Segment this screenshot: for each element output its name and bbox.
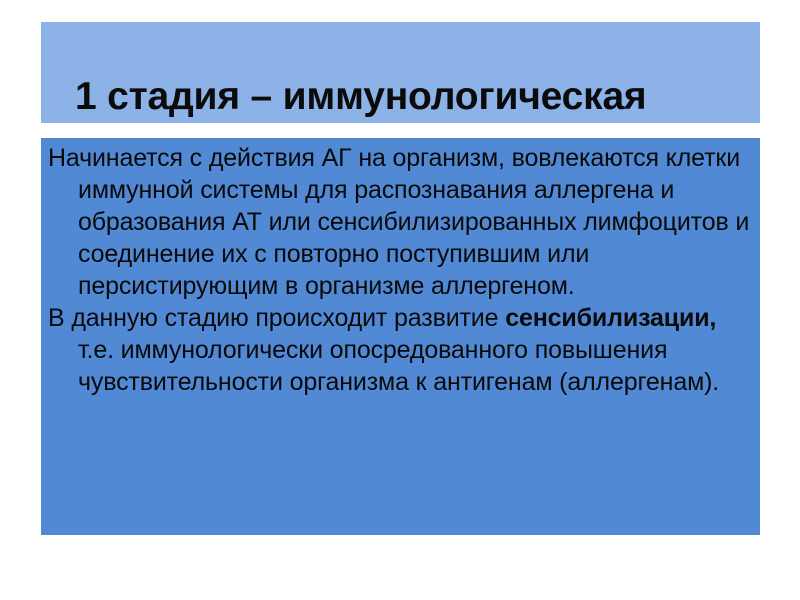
body-content-box: Начинается с действия АГ на организм, во… — [41, 138, 760, 535]
paragraph-2-run-3: т.е. иммунологически опосредованного пов… — [78, 336, 719, 396]
slide-canvas: 1 стадия – иммунологическая Начинается с… — [0, 0, 800, 600]
body-paragraph-2: В данную стадию происходит развитие сенс… — [48, 302, 754, 398]
title-banner: 1 стадия – иммунологическая — [41, 22, 760, 123]
page-title: 1 стадия – иммунологическая — [75, 76, 750, 118]
paragraph-2-run-1: В данную стадию происходит развитие — [48, 304, 505, 332]
paragraph-1-run-1: Начинается с действия АГ на организм, во… — [48, 144, 749, 300]
body-paragraph-1: Начинается с действия АГ на организм, во… — [48, 142, 754, 302]
paragraph-2-run-2-bold: сенсибилизации, — [505, 304, 716, 332]
body-text-container: Начинается с действия АГ на организм, во… — [48, 142, 754, 398]
